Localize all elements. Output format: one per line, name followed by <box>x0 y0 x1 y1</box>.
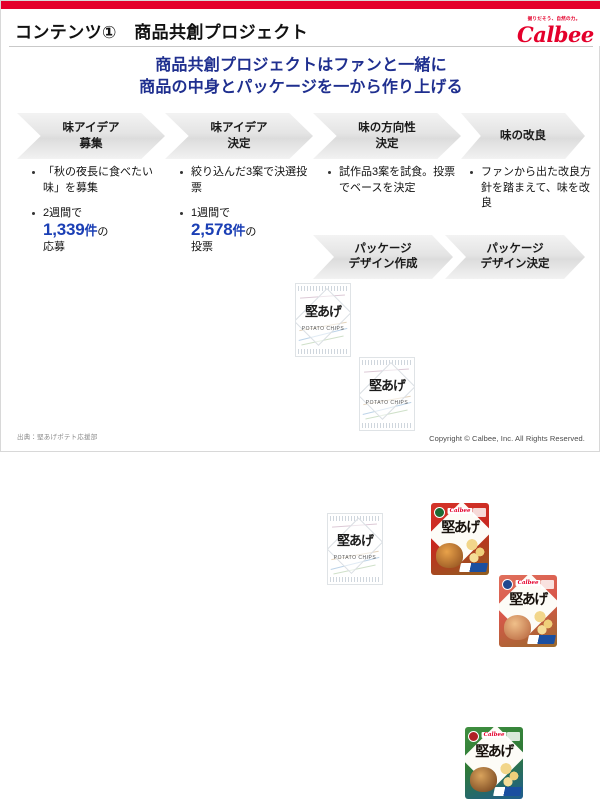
package-step-1-line-1: パッケージ <box>349 242 418 257</box>
stat-2-unit: 件 <box>233 223 246 238</box>
package-step-chevron-2: パッケージデザイン決定 <box>445 235 585 279</box>
draft-2-sub: POTATO CHIPS <box>360 400 414 406</box>
process-steps-row-2: パッケージデザイン作成 パッケージデザイン決定 <box>313 235 585 279</box>
step-1-line-1: 味アイデア <box>63 120 120 136</box>
step-1-line-2: 募集 <box>63 136 120 152</box>
package-step-chevron-1: パッケージデザイン作成 <box>313 235 453 279</box>
final-3-brand: 堅あげ <box>465 746 523 758</box>
step-chevron-3: 味の方向性決定 <box>313 113 461 159</box>
package-final-image-1: Calbee 堅あげ <box>431 503 489 575</box>
package-draft-image-1: 堅あげ POTATO CHIPS <box>295 283 351 357</box>
package-gallery: 堅あげ POTATO CHIPS 堅あげ POTATO CHIPS 堅あげ PO… <box>289 281 589 421</box>
package-chips <box>500 760 520 789</box>
package-draft-image-2: 堅あげ POTATO CHIPS <box>359 357 415 431</box>
step-detail-column-4: ファンから出た改良方針を踏まえて、味を改良 <box>469 165 595 222</box>
seal-strip-bottom <box>298 349 348 354</box>
step-detail-column-1: 「秋の夜長に食べたい味」を募集 2週間で 1,339件の 応募 <box>31 165 165 266</box>
logo-wordmark: Calbee <box>517 23 591 46</box>
stat-1-particle: の <box>97 226 108 238</box>
stat-2-particle: の <box>245 226 256 238</box>
step-chevron-2: 味アイデア決定 <box>165 113 313 159</box>
top-accent-bar <box>1 1 600 9</box>
step-3-line-1: 味の方向性 <box>358 120 416 136</box>
package-ribbon <box>493 787 522 796</box>
slide-root: コンテンツ① 商品共創プロジェクト 掘りだそう、自然の力。 Calbee 商品共… <box>0 0 600 452</box>
final-2-maker: Calbee <box>516 580 541 586</box>
package-ribbon <box>459 563 488 572</box>
draft-2-brand: 堅あげ <box>360 381 414 393</box>
header-divider <box>9 46 593 47</box>
package-step-1-line-2: デザイン作成 <box>349 257 418 272</box>
page-title: コンテンツ① 商品共創プロジェクト <box>15 18 308 43</box>
bullet-item: 「秋の夜長に食べたい味」を募集 <box>31 165 165 196</box>
final-2-brand: 堅あげ <box>499 594 557 606</box>
package-window <box>541 580 554 589</box>
stat-1-number: 1,339 <box>43 220 85 239</box>
package-window <box>473 508 486 517</box>
process-steps-row-1: 味アイデア募集 味アイデア決定 味の方向性決定 味の改良 <box>17 113 585 159</box>
step-2-line-1: 味アイデア <box>211 120 268 136</box>
step-2-line-2: 決定 <box>211 136 268 152</box>
package-chips <box>534 608 554 637</box>
final-1-brand: 堅あげ <box>431 522 489 534</box>
step-detail-column-2: 絞り込んだ3案で決選投票 1週間で 2,578件の 投票 <box>179 165 313 266</box>
stat-1-post: 応募 <box>43 240 165 256</box>
bullet-item-stat: 1週間で 2,578件の 投票 <box>179 206 313 256</box>
stat-2-number: 2,578 <box>191 220 233 239</box>
source-note: 出典：堅あげポテト応援部 <box>17 431 97 441</box>
package-food-photo <box>436 543 464 567</box>
final-3-maker: Calbee <box>482 732 507 738</box>
stat-2-post: 投票 <box>191 240 313 256</box>
draft-3-sub: POTATO CHIPS <box>328 555 382 561</box>
package-chips <box>466 536 486 565</box>
stat-1-unit: 件 <box>85 223 98 238</box>
package-draft-image-3: 堅あげ POTATO CHIPS <box>327 513 383 585</box>
draft-1-sub: POTATO CHIPS <box>296 326 350 332</box>
copyright-note: Copyright © Calbee, Inc. All Rights Rese… <box>429 434 585 443</box>
step-chevron-4: 味の改良 <box>461 113 585 159</box>
final-1-maker: Calbee <box>448 508 473 514</box>
draft-1-brand: 堅あげ <box>296 307 350 319</box>
main-heading-line-1: 商品共創プロジェクトはファンと一緒に <box>1 55 600 77</box>
package-window <box>507 732 520 741</box>
bullet-item: 絞り込んだ3案で決選投票 <box>179 165 313 196</box>
step-chevron-1: 味アイデア募集 <box>17 113 165 159</box>
slide-header: コンテンツ① 商品共創プロジェクト 掘りだそう、自然の力。 Calbee <box>1 9 600 46</box>
package-final-image-2: Calbee 堅あげ <box>499 575 557 647</box>
package-ribbon <box>527 635 556 644</box>
bullet-item-stat: 2週間で 1,339件の 応募 <box>31 206 165 256</box>
package-step-2-line-1: パッケージ <box>481 242 550 257</box>
stat-1-value: 1,339件の <box>43 222 165 241</box>
package-step-2-line-2: デザイン決定 <box>481 257 550 272</box>
bullet-item: 試作品3案を試食。投票でベースを決定 <box>327 165 461 196</box>
package-final-image-3: Calbee 堅あげ <box>465 727 523 799</box>
step-3-line-2: 決定 <box>358 136 416 152</box>
stat-2-value: 2,578件の <box>191 222 313 241</box>
seal-strip-bottom <box>362 423 412 428</box>
main-heading-line-2: 商品の中身とパッケージを一から作り上げる <box>1 77 600 99</box>
seal-strip-bottom <box>330 577 380 582</box>
package-food-photo <box>470 767 498 791</box>
main-heading: 商品共創プロジェクトはファンと一緒に 商品の中身とパッケージを一から作り上げる <box>1 55 600 99</box>
bullet-item: ファンから出た改良方針を踏まえて、味を改良 <box>469 165 595 212</box>
draft-3-brand: 堅あげ <box>328 536 382 548</box>
step-detail-column-3: 試作品3案を試食。投票でベースを決定 <box>327 165 461 206</box>
package-food-photo <box>504 615 532 639</box>
step-4-line-1: 味の改良 <box>500 128 546 144</box>
